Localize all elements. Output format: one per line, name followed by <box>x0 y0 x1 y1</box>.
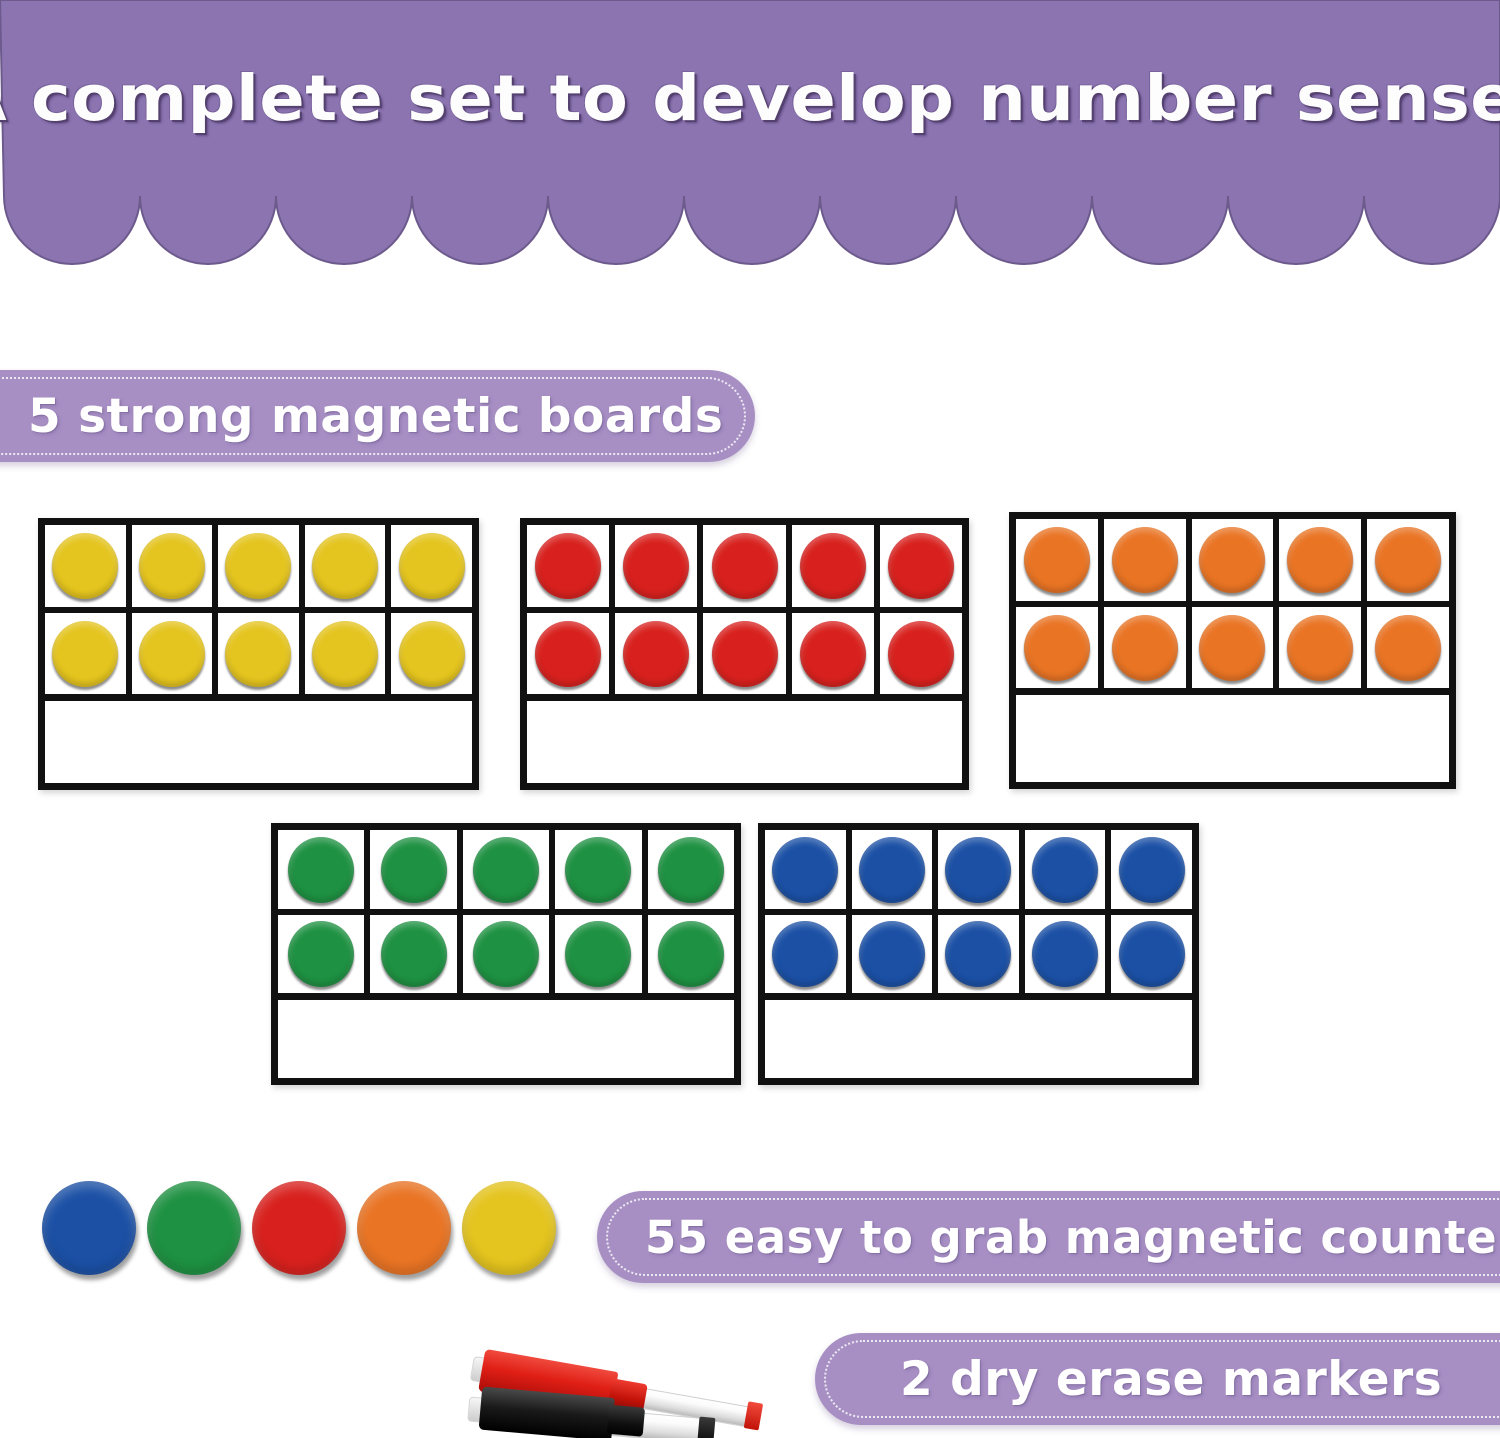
counter-green[interactable] <box>473 921 539 987</box>
frame-cell[interactable] <box>218 525 305 607</box>
frame-row-bottom <box>1016 607 1449 695</box>
frame-cell[interactable] <box>1104 607 1192 688</box>
counter-red[interactable] <box>800 621 866 687</box>
frame-row-top <box>527 525 962 613</box>
frame-cell[interactable] <box>132 525 219 607</box>
frame-cell[interactable] <box>370 915 462 993</box>
counter-orange[interactable] <box>1112 527 1178 593</box>
counter-yellow[interactable] <box>225 533 291 599</box>
counter-green[interactable] <box>381 837 447 903</box>
frame-cell[interactable] <box>703 613 791 694</box>
write-strip[interactable] <box>278 1000 734 1078</box>
header-banner <box>0 0 1500 292</box>
frame-cell[interactable] <box>852 830 939 909</box>
write-strip[interactable] <box>527 701 962 783</box>
counter-red[interactable] <box>888 621 954 687</box>
frame-cell[interactable] <box>1279 519 1367 601</box>
frame-cell[interactable] <box>1016 519 1104 601</box>
counter-red[interactable] <box>535 533 601 599</box>
counter-orange[interactable] <box>1287 615 1353 681</box>
counter-orange[interactable] <box>1287 527 1353 593</box>
ten-frame-board-red[interactable] <box>520 518 969 790</box>
ten-frame-board-yellow[interactable] <box>38 518 479 790</box>
frame-row-bottom <box>45 613 472 701</box>
counter-orange[interactable] <box>1112 615 1178 681</box>
counter-blue[interactable] <box>859 837 925 903</box>
frame-cell[interactable] <box>391 525 472 607</box>
ten-frame-board-orange[interactable] <box>1009 512 1456 789</box>
orange-counter[interactable] <box>357 1181 451 1275</box>
frame-row-top <box>45 525 472 613</box>
counter-blue[interactable] <box>859 921 925 987</box>
frame-cell[interactable] <box>615 613 703 694</box>
frame-cell[interactable] <box>792 525 880 607</box>
counter-green[interactable] <box>658 837 724 903</box>
label-pill-counters: 55 easy to grab magnetic counters <box>597 1191 1500 1283</box>
write-strip[interactable] <box>765 1000 1192 1078</box>
frame-cell[interactable] <box>555 830 647 909</box>
frame-cell[interactable] <box>555 915 647 993</box>
frame-cell[interactable] <box>278 830 370 909</box>
page-title: A complete set to develop number sense ! <box>0 62 1500 135</box>
frame-cell[interactable] <box>703 525 791 607</box>
counter-red[interactable] <box>712 533 778 599</box>
counter-blue[interactable] <box>772 837 838 903</box>
frame-cell[interactable] <box>527 613 615 694</box>
blue-counter[interactable] <box>42 1181 136 1275</box>
frame-cell[interactable] <box>391 613 472 694</box>
counter-red[interactable] <box>535 621 601 687</box>
counter-green[interactable] <box>473 837 539 903</box>
counter-red[interactable] <box>800 533 866 599</box>
label-pill-markers: 2 dry erase markers <box>815 1333 1500 1425</box>
frame-cell[interactable] <box>880 525 962 607</box>
counter-blue[interactable] <box>1032 921 1098 987</box>
dry-erase-markers-group <box>400 1318 830 1438</box>
marker-cap <box>479 1387 615 1438</box>
counter-yellow[interactable] <box>52 621 118 687</box>
frame-cell[interactable] <box>1279 607 1367 688</box>
frame-row-bottom <box>765 915 1192 1000</box>
counter-yellow[interactable] <box>139 621 205 687</box>
frame-cell[interactable] <box>463 830 555 909</box>
counter-green[interactable] <box>658 921 724 987</box>
frame-cell[interactable] <box>305 525 392 607</box>
counter-yellow[interactable] <box>399 621 465 687</box>
write-strip[interactable] <box>45 701 472 783</box>
counter-yellow[interactable] <box>225 621 291 687</box>
write-strip[interactable] <box>1016 695 1449 782</box>
frame-row-top <box>765 830 1192 915</box>
frame-cell[interactable] <box>1111 830 1192 909</box>
frame-cell[interactable] <box>218 613 305 694</box>
counter-yellow[interactable] <box>312 621 378 687</box>
counter-blue[interactable] <box>945 837 1011 903</box>
counter-green[interactable] <box>288 921 354 987</box>
counter-yellow[interactable] <box>139 533 205 599</box>
label-pill-markers-text: 2 dry erase markers <box>900 1352 1442 1407</box>
ten-frame-board-blue[interactable] <box>758 823 1199 1085</box>
frame-cell[interactable] <box>527 525 615 607</box>
frame-cell[interactable] <box>1104 519 1192 601</box>
loose-counters-row <box>42 1181 556 1275</box>
frame-cell[interactable] <box>1367 607 1449 688</box>
label-pill-boards-text: 5 strong magnetic boards <box>28 389 723 444</box>
frame-row-bottom <box>527 613 962 701</box>
frame-cell[interactable] <box>278 915 370 993</box>
yellow-counter[interactable] <box>462 1181 556 1275</box>
frame-cell[interactable] <box>1025 915 1112 993</box>
frame-row-bottom <box>278 915 734 1000</box>
counter-green[interactable] <box>288 837 354 903</box>
counter-green[interactable] <box>565 837 631 903</box>
frame-cell[interactable] <box>305 613 392 694</box>
counter-yellow[interactable] <box>312 533 378 599</box>
red-counter[interactable] <box>252 1181 346 1275</box>
counter-orange[interactable] <box>1024 527 1090 593</box>
marker-nib <box>698 1417 716 1438</box>
frame-cell[interactable] <box>648 915 734 993</box>
green-counter[interactable] <box>147 1181 241 1275</box>
frame-cell[interactable] <box>1192 607 1280 688</box>
counter-yellow[interactable] <box>52 533 118 599</box>
frame-cell[interactable] <box>792 613 880 694</box>
frame-cell[interactable] <box>765 830 852 909</box>
counter-orange[interactable] <box>1375 615 1441 681</box>
frame-row-top <box>1016 519 1449 607</box>
counter-blue[interactable] <box>945 921 1011 987</box>
counter-blue[interactable] <box>772 921 838 987</box>
counter-blue[interactable] <box>1119 921 1185 987</box>
frame-cell[interactable] <box>880 613 962 694</box>
counter-red[interactable] <box>623 533 689 599</box>
frame-cell[interactable] <box>648 830 734 909</box>
frame-cell[interactable] <box>852 915 939 993</box>
counter-blue[interactable] <box>1032 837 1098 903</box>
frame-cell[interactable] <box>765 915 852 993</box>
frame-cell[interactable] <box>615 525 703 607</box>
counter-green[interactable] <box>381 921 447 987</box>
counter-red[interactable] <box>712 621 778 687</box>
frame-cell[interactable] <box>370 830 462 909</box>
frame-cell[interactable] <box>1367 519 1449 601</box>
frame-cell[interactable] <box>938 915 1025 993</box>
label-pill-counters-text: 55 easy to grab magnetic counters <box>645 1211 1500 1264</box>
counter-yellow[interactable] <box>399 533 465 599</box>
counter-orange[interactable] <box>1199 527 1265 593</box>
frame-cell[interactable] <box>938 830 1025 909</box>
frame-cell[interactable] <box>132 613 219 694</box>
frame-cell[interactable] <box>1111 915 1192 993</box>
marker-cap-tip <box>607 1405 645 1437</box>
product-infographic: A complete set to develop number sense !… <box>0 0 1500 1438</box>
label-pill-boards: 5 strong magnetic boards <box>0 370 755 462</box>
counter-blue[interactable] <box>1119 837 1185 903</box>
frame-cell[interactable] <box>1025 830 1112 909</box>
frame-cell[interactable] <box>1192 519 1280 601</box>
counter-red[interactable] <box>623 621 689 687</box>
frame-cell[interactable] <box>45 525 132 607</box>
counter-orange[interactable] <box>1024 615 1090 681</box>
frame-cell[interactable] <box>1016 607 1104 688</box>
counter-orange[interactable] <box>1199 615 1265 681</box>
counter-green[interactable] <box>565 921 631 987</box>
counter-orange[interactable] <box>1375 527 1441 593</box>
frame-cell[interactable] <box>45 613 132 694</box>
counter-red[interactable] <box>888 533 954 599</box>
frame-cell[interactable] <box>463 915 555 993</box>
ten-frame-board-green[interactable] <box>271 823 741 1085</box>
frame-row-top <box>278 830 734 915</box>
